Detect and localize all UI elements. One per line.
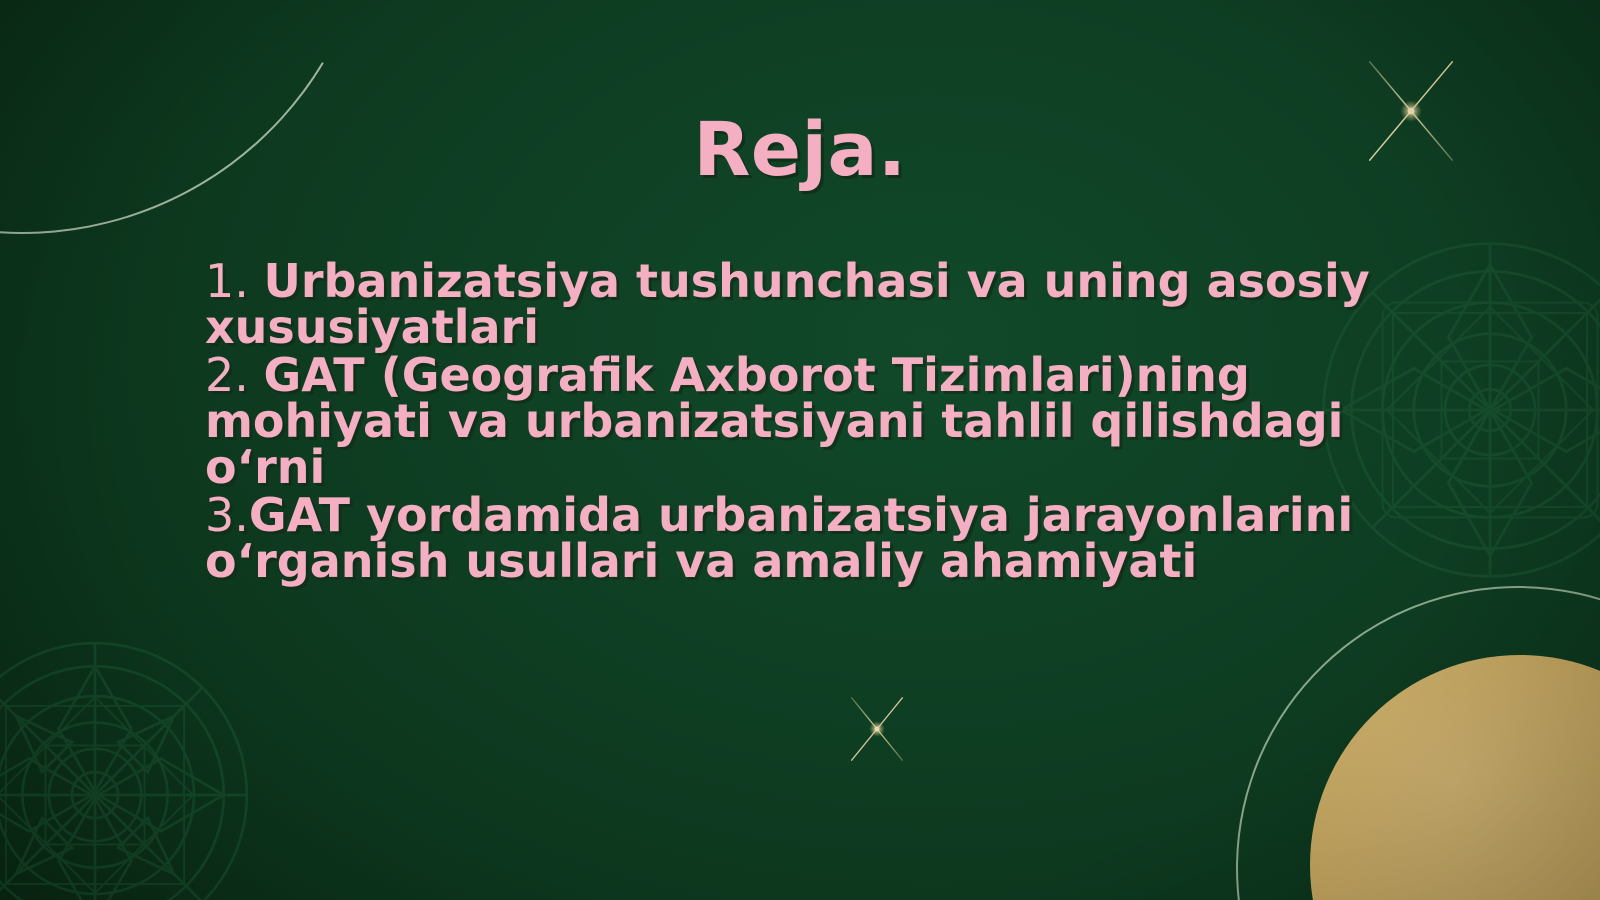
outline-item-text: GAT yordamida urbanizatsiya jarayonlarin… — [205, 488, 1353, 588]
outline-item: 1. Urbanizatsiya tushunchasi va uning as… — [205, 258, 1455, 350]
outline-item-text: Urbanizatsiya tushunchasi va uning asosi… — [205, 254, 1370, 354]
outline-item: 2. GAT (Geografik Axborot Tizimlari)ning… — [205, 352, 1455, 490]
outline-list: 1. Urbanizatsiya tushunchasi va uning as… — [205, 258, 1455, 586]
slide-title: Reja. — [0, 113, 1600, 187]
presentation-slide: Reja. 1. Urbanizatsiya tushunchasi va un… — [0, 0, 1600, 900]
outline-item-text: GAT (Geografik Axborot Tizimlari)ning mo… — [205, 348, 1343, 494]
outline-item: 3.GAT yordamida urbanizatsiya jarayonlar… — [205, 492, 1455, 584]
slide-content: Reja. 1. Urbanizatsiya tushunchasi va un… — [0, 0, 1600, 900]
